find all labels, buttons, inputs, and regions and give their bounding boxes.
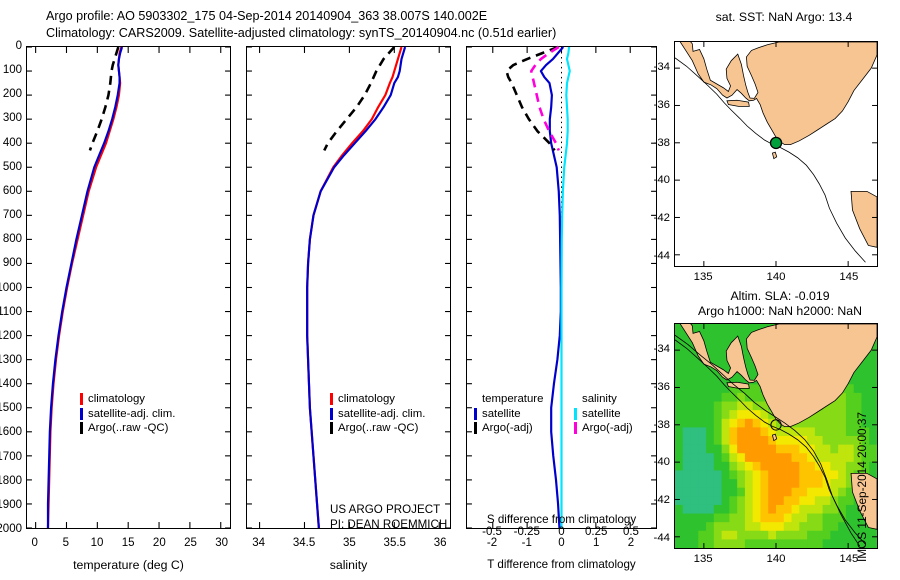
latitude-tick-label: -42 <box>654 212 670 224</box>
legend-label: satellite-adj. clim. <box>88 407 175 422</box>
float-marker[interactable] <box>770 137 781 148</box>
depth-tick-label: 1700 <box>0 451 22 463</box>
difference-plot-area <box>467 47 656 528</box>
legend-color-swatch <box>80 408 83 420</box>
legend-label: satellite-adj. clim. <box>338 407 425 422</box>
profile-line <box>48 47 121 528</box>
legend-item: Argo(-adj) <box>474 421 543 436</box>
x-tick-label: 0.25 <box>585 526 607 538</box>
salinity-legend: climatologysatellite-adj. clim.Argo(..ra… <box>330 392 425 436</box>
latitude-tick-label: -44 <box>654 532 670 544</box>
depth-tick-label: 1400 <box>0 378 22 390</box>
sla-map-canvas <box>675 324 877 548</box>
sst-map[interactable] <box>674 41 878 267</box>
latitude-tick-label: -36 <box>654 99 670 111</box>
page-title: Argo profile: AO 5903302_175 04-Sep-2014… <box>46 8 666 41</box>
longitude-tick-label: 135 <box>694 271 713 283</box>
legend-color-swatch <box>330 408 333 420</box>
difference-legend-salinity: salinitysatelliteArgo(-adj) <box>574 392 633 436</box>
temperature-profile-panel <box>26 46 231 529</box>
landmass <box>675 42 877 145</box>
depth-tick-label: 1000 <box>0 282 22 294</box>
legend-color-swatch <box>80 393 83 405</box>
legend-item: Argo(..raw -QC) <box>330 421 425 436</box>
x-tick-label: 0.5 <box>623 526 639 538</box>
legend-item: Argo(-adj) <box>574 421 633 436</box>
title-line-2: Climatology: CARS2009. Satellite-adjuste… <box>46 25 666 42</box>
latitude-tick-label: -34 <box>654 61 670 73</box>
depth-tick-label: 1600 <box>0 426 22 438</box>
sla-map-lat-labels: -34-36-38-40-42-44 <box>650 323 670 549</box>
depth-tick-label: 0 <box>16 40 22 52</box>
legend-label: climatology <box>88 392 145 407</box>
landmass <box>851 191 877 247</box>
longitude-tick-label: 140 <box>766 553 785 565</box>
x-tick-label: -0.5 <box>482 526 502 538</box>
difference-legend-temperature: temperaturesatelliteArgo(-adj) <box>474 392 543 436</box>
sst-map-lat-labels: -34-36-38-40-42-44 <box>650 41 670 267</box>
legend-label: satellite <box>482 407 521 422</box>
latitude-tick-label: -36 <box>654 381 670 393</box>
legend-label: climatology <box>338 392 395 407</box>
legend-color-swatch <box>474 408 477 420</box>
legend-item: satellite-adj. clim. <box>330 407 425 422</box>
x-tick-label: 0 <box>558 526 564 538</box>
legend-item: satellite <box>574 407 633 422</box>
sst-map-title: sat. SST: NaN Argo: 13.4 <box>668 10 900 24</box>
t-difference-axis-title: T difference from climatology <box>487 558 635 571</box>
temperature-legend: climatologysatellite-adj. clim.Argo(..ra… <box>80 392 175 436</box>
landmass <box>727 100 749 106</box>
s-difference-axis-title: S difference from climatology <box>487 513 636 526</box>
latitude-tick-label: -38 <box>654 137 670 149</box>
timestamp-stamp: IMOS 11-Sep-2014 20:00:37 <box>855 412 869 562</box>
profile-line <box>307 47 405 528</box>
legend-header: temperature <box>474 392 543 407</box>
profile-line <box>90 47 118 150</box>
longitude-tick-label: 140 <box>766 271 785 283</box>
legend-label: Argo(-adj) <box>482 421 533 436</box>
depth-tick-label: 500 <box>3 161 22 173</box>
legend-color-swatch <box>574 408 577 420</box>
legend-color-swatch <box>330 422 333 434</box>
depth-tick-label: 700 <box>3 209 22 221</box>
salinity-profile-panel <box>246 46 451 529</box>
x-tick-label: -0.25 <box>514 526 540 538</box>
legend-item: satellite-adj. clim. <box>80 407 175 422</box>
landmass <box>772 152 776 159</box>
depth-tick-label: 300 <box>3 112 22 124</box>
depth-tick-label: 600 <box>3 185 22 197</box>
longitude-tick-label: 135 <box>694 553 713 565</box>
legend-label: Argo(..raw -QC) <box>338 421 418 436</box>
sla-map-title-line-1: Altim. SLA: -0.019 <box>660 289 900 304</box>
legend-color-swatch <box>330 393 333 405</box>
depth-tick-label: 200 <box>3 88 22 100</box>
depth-tick-label: 900 <box>3 257 22 269</box>
sla-map-title-line-2: Argo h1000: NaN h2000: NaN <box>660 304 900 319</box>
legend-item: climatology <box>80 392 175 407</box>
depth-tick-label: 1900 <box>0 499 22 511</box>
depth-tick-label: 1100 <box>0 306 22 318</box>
latitude-tick-label: -40 <box>654 174 670 186</box>
sst-map-canvas <box>675 42 877 266</box>
sst-map-lon-labels: 135140145 <box>674 271 878 289</box>
depth-tick-label: 1200 <box>0 330 22 342</box>
latitude-tick-label: -42 <box>654 494 670 506</box>
legend-label: Argo(-adj) <box>582 421 633 436</box>
legend-color-swatch <box>80 422 83 434</box>
profile-line <box>562 47 570 528</box>
legend-label: satellite <box>582 407 621 422</box>
profile-line <box>531 47 558 150</box>
legend-color-swatch <box>474 422 477 434</box>
legend-item: satellite <box>474 407 543 422</box>
profile-line <box>307 47 401 528</box>
latitude-tick-label: -34 <box>654 343 670 355</box>
latitude-tick-label: -44 <box>654 250 670 262</box>
depth-tick-label: 400 <box>3 137 22 149</box>
salinity-axis-title: salinity <box>330 558 368 572</box>
depth-tick-label: 800 <box>3 233 22 245</box>
depth-tick-label: 1300 <box>0 354 22 366</box>
legend-header: salinity <box>574 392 633 407</box>
depth-tick-label: 1500 <box>0 402 22 414</box>
credit-line-1: US ARGO PROJECT <box>330 503 447 518</box>
depth-tick-label: 100 <box>3 64 22 76</box>
title-line-1: Argo profile: AO 5903302_175 04-Sep-2014… <box>46 8 666 25</box>
latitude-tick-label: -40 <box>654 456 670 468</box>
profile-line <box>541 47 563 528</box>
legend-item: Argo(..raw -QC) <box>80 421 175 436</box>
legend-label: Argo(..raw -QC) <box>88 421 168 436</box>
temperature-plot-area <box>27 47 230 528</box>
depth-axis-labels: 0100200300400500600700800900100011001200… <box>0 46 22 529</box>
latitude-tick-label: -38 <box>654 419 670 431</box>
legend-item: climatology <box>330 392 425 407</box>
longitude-tick-label: 145 <box>839 271 858 283</box>
salinity-plot-area <box>247 47 450 528</box>
sla-map-lon-labels: 135140145 <box>674 553 878 571</box>
temperature-axis-title: temperature (deg C) <box>73 558 184 572</box>
sla-map-title: Altim. SLA: -0.019 Argo h1000: NaN h2000… <box>660 289 900 319</box>
sla-map[interactable] <box>674 323 878 549</box>
profile-line <box>48 47 122 528</box>
legend-color-swatch <box>574 422 577 434</box>
depth-tick-label: 1800 <box>0 475 22 487</box>
difference-profile-panel <box>466 46 657 529</box>
